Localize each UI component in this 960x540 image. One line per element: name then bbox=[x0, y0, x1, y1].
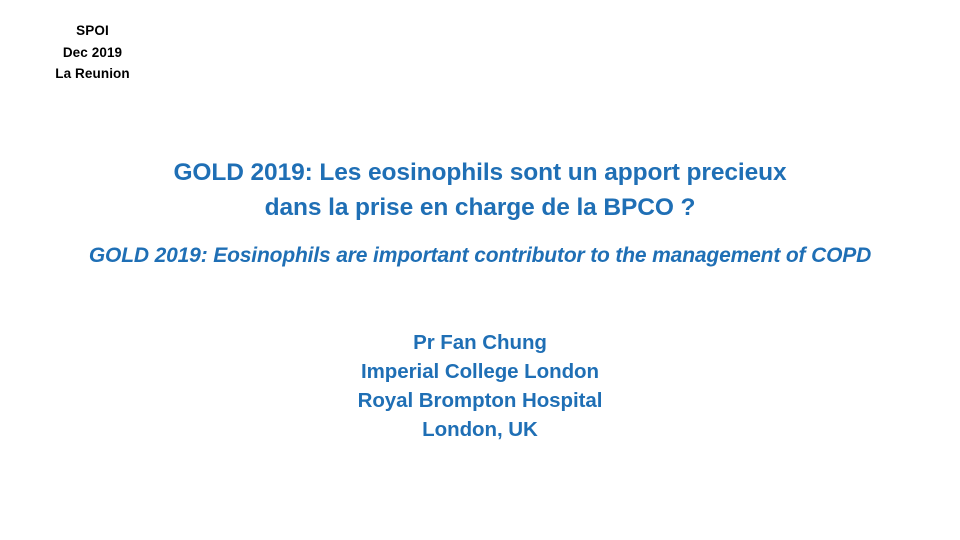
author-city: London, UK bbox=[0, 415, 960, 444]
title-line-2: dans la prise en charge de la BPCO ? bbox=[0, 190, 960, 225]
conference-location: La Reunion bbox=[20, 63, 165, 85]
conference-name: SPOI bbox=[20, 20, 165, 42]
author-name: Pr Fan Chung bbox=[0, 328, 960, 357]
author-affiliation-block: Pr Fan Chung Imperial College London Roy… bbox=[0, 328, 960, 444]
author-institution: Imperial College London bbox=[0, 357, 960, 386]
author-hospital: Royal Brompton Hospital bbox=[0, 386, 960, 415]
title-line-1: GOLD 2019: Les eosinophils sont un appor… bbox=[0, 155, 960, 190]
page-subtitle: GOLD 2019: Eosinophils are important con… bbox=[0, 241, 960, 271]
conference-header: SPOI Dec 2019 La Reunion bbox=[20, 20, 165, 85]
subtitle-line-1: GOLD 2019: Eosinophils are important con… bbox=[0, 241, 960, 271]
page-title: GOLD 2019: Les eosinophils sont un appor… bbox=[0, 155, 960, 225]
conference-date: Dec 2019 bbox=[20, 42, 165, 64]
title-slide: SPOI Dec 2019 La Reunion GOLD 2019: Les … bbox=[0, 0, 960, 540]
